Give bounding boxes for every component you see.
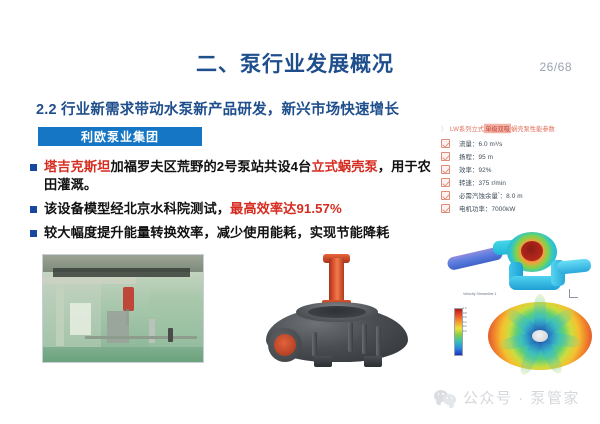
- photo-person: [168, 328, 174, 342]
- spec-key: 效率：: [459, 167, 478, 174]
- watermark: 公众号 · 泵管家: [434, 387, 580, 408]
- bullet-segment: 最高效率达91.57%: [230, 201, 342, 216]
- page-number: 26/68: [539, 60, 572, 74]
- watermark-text: 公众号 · 泵管家: [463, 387, 580, 408]
- colorbar: [454, 308, 463, 356]
- check-icon: [441, 191, 450, 200]
- spec-key: 电机功率：: [459, 206, 491, 213]
- cfd-volute-caption: Velocity Streamline 1: [463, 292, 497, 296]
- spec-value: 95 m: [478, 154, 493, 161]
- spec-key: 必需汽蚀余量: [459, 193, 498, 200]
- bullet-square-icon: [30, 206, 37, 213]
- bullet-list: 塔吉克斯坦加福罗夫区荒野的2号泵站共设4台立式蜗壳泵，用于农田灌溉。 该设备模型…: [30, 158, 438, 248]
- pump-foot: [364, 356, 382, 367]
- spec-value: 92%: [478, 167, 491, 174]
- bullet-text: 塔吉克斯坦加福罗夫区荒野的2号泵站共设4台立式蜗壳泵，用于农田灌溉。: [44, 158, 438, 194]
- spec-label: 电机功率：7000kW: [459, 204, 516, 213]
- bullet-square-icon: [30, 164, 37, 171]
- photo-hoist: [123, 287, 134, 311]
- spec-label: 流量：6.0 m³/s: [459, 139, 502, 148]
- spec-row: 扬程：95 m: [441, 150, 593, 163]
- pump-rib: [362, 324, 367, 354]
- colorbar-labels: 1.00.80.60.40.20.0: [463, 307, 477, 357]
- pump-station-interior-photo: [42, 254, 204, 363]
- check-icon: [441, 152, 450, 161]
- spec-header-prefix: LW系列立式: [450, 124, 484, 133]
- spec-row: 必需汽蚀余量*：8.0 m: [441, 189, 593, 202]
- spec-header-highlight: 单级双吸: [484, 124, 511, 133]
- wechat-eye: [442, 393, 444, 395]
- cfd-volute-core: [521, 241, 543, 261]
- wechat-bubble-front: [443, 394, 456, 405]
- pump-foot: [314, 356, 332, 367]
- pump-inlet-flange: [268, 328, 302, 362]
- spec-label: 扬程：95 m: [459, 152, 493, 161]
- spec-row: 流量：6.0 m³/s: [441, 137, 593, 150]
- spec-panel: 〉 LW系列立式单级双吸蜗壳泵性能参数 流量：6.0 m³/s 扬程：95 m …: [441, 124, 593, 215]
- wechat-eye: [451, 397, 453, 399]
- chevron-right-icon: 〉: [441, 124, 447, 133]
- spec-row: 转速：375 r/min: [441, 176, 593, 189]
- pump-rib: [376, 326, 381, 356]
- pump-rib: [312, 332, 317, 356]
- pump-top-cover: [296, 302, 378, 322]
- pump-rib: [348, 322, 353, 352]
- slide-canvas: 二、泵行业发展概况 26/68 2.2 行业新需求带动水泵新产品研发，新兴市场快…: [0, 0, 600, 424]
- spec-key: 扬程：: [459, 154, 478, 161]
- spec-value: 6.0 m³/s: [478, 141, 502, 148]
- wechat-eye: [438, 393, 440, 395]
- colorbar-tick-label: 0.0: [463, 330, 477, 335]
- check-icon: [441, 178, 450, 187]
- check-icon: [441, 204, 450, 213]
- spec-key: 流量：: [459, 141, 478, 148]
- photo-pipe: [149, 319, 155, 343]
- page-title: 二、泵行业发展概况: [196, 48, 394, 78]
- wechat-icon: [434, 390, 456, 406]
- spec-value: ：8.0 m: [500, 193, 523, 200]
- impeller-hub: [532, 330, 548, 342]
- spec-panel-header: 〉 LW系列立式单级双吸蜗壳泵性能参数: [441, 124, 593, 133]
- bullet-segment: 塔吉克斯坦: [44, 159, 110, 174]
- spec-row: 效率：92%: [441, 163, 593, 176]
- cfd-outlet-pipe: [556, 258, 591, 274]
- spec-key: 转速：: [459, 180, 478, 187]
- list-item: 较大幅度提升能量转换效率，减少使用能耗，实现节能降耗: [30, 224, 438, 242]
- list-item: 塔吉克斯坦加福罗夫区荒野的2号泵站共设4台立式蜗壳泵，用于农田灌溉。: [30, 158, 438, 194]
- photo-column: [56, 287, 64, 346]
- vertical-volute-pump-3d-render: [252, 252, 422, 372]
- spec-value: 7000kW: [491, 206, 515, 213]
- check-icon: [441, 165, 450, 174]
- header-divider: [0, 86, 600, 89]
- photo-window: [70, 303, 91, 335]
- axis-triad-icon: [569, 288, 579, 298]
- list-item: 该设备模型经北京水科院测试，最高效率达91.57%: [30, 200, 438, 218]
- photo-railing: [85, 336, 197, 339]
- section-subtitle: 2.2 行业新需求带动水泵新产品研发，新兴市场快速增长: [36, 98, 399, 119]
- wechat-eye: [447, 397, 449, 399]
- photo-upper-ledge: [43, 277, 136, 283]
- spec-label: 必需汽蚀余量*：8.0 m: [459, 191, 523, 200]
- spec-row: 电机功率：7000kW: [441, 202, 593, 215]
- bullet-segment: 加福罗夫区荒野的2号泵站共设4台: [110, 159, 311, 174]
- bullet-square-icon: [30, 230, 37, 237]
- pump-shaft: [329, 258, 344, 306]
- spec-label: 转速：375 r/min: [459, 178, 506, 187]
- spec-value: 375 r/min: [478, 180, 506, 187]
- spec-label: 效率：92%: [459, 165, 492, 174]
- brand-banner-label: 利欧泵业集团: [81, 128, 159, 145]
- check-icon: [441, 139, 450, 148]
- cfd-impeller-pressure-contour: 1.00.80.60.40.20.0: [448, 300, 598, 372]
- bullet-text: 该设备模型经北京水科院测试，最高效率达91.57%: [44, 200, 342, 218]
- brand-banner: 利欧泵业集团: [38, 127, 202, 146]
- bullet-segment: 较大幅度提升能量转换效率，减少使用能耗，实现节能降耗: [44, 225, 389, 240]
- bullet-text: 较大幅度提升能量转换效率，减少使用能耗，实现节能降耗: [44, 224, 389, 242]
- cfd-volute-flow-path: Velocity Streamline 1: [445, 232, 595, 304]
- impeller-disc: [488, 302, 592, 370]
- bullet-segment: 该设备模型经北京水科院测试，: [44, 201, 230, 216]
- spec-header-suffix: 蜗壳泵性能参数: [511, 124, 555, 133]
- bullet-segment: 立式蜗壳泵: [311, 159, 377, 174]
- photo-floor: [43, 347, 203, 362]
- photo-crane-beam: [53, 268, 191, 278]
